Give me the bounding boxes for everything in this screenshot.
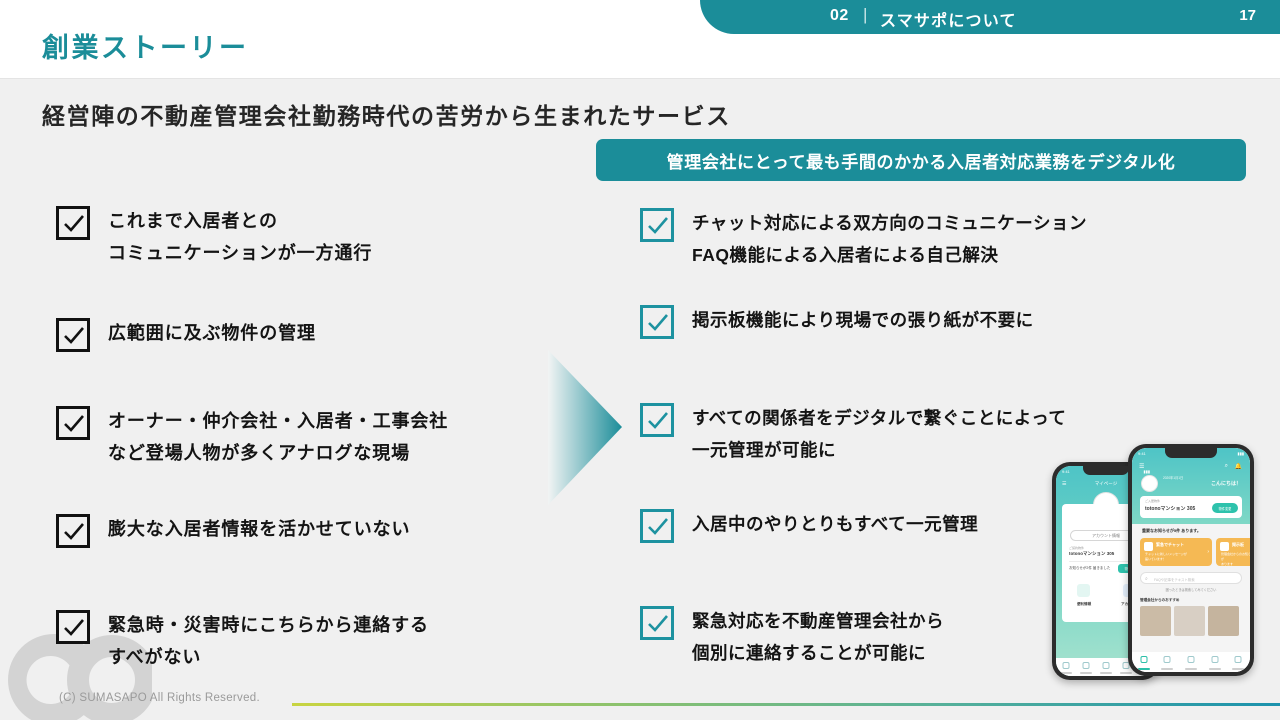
highlight-pill-label: 管理会社にとって最も手間のかかる入居者対応業務をデジタル化	[667, 148, 1176, 173]
status-time: 9:41	[1062, 469, 1070, 474]
phone-mockup-right: 9:41 ▮▮▮ ☰ ⌕ 🔔 2020年1月1日 こんにちは！ ご入居物件 to…	[1128, 444, 1254, 676]
nav-item-faq[interactable]	[1203, 652, 1227, 672]
notice-text: お知らせが2件 届きました	[1069, 566, 1110, 571]
list-item: オーナー・仲介会社・入居者・工事会社 など登場人物が多くアナログな現場	[56, 405, 448, 469]
notice-card-board[interactable]: 掲示板 管理会社からのお知らせが あります	[1216, 538, 1250, 566]
list-item: これまで入居者との コミュニケーションが一方通行	[56, 205, 372, 269]
status-icons-left: ▮▮▮	[1143, 469, 1150, 474]
status-icons-right: ▮▮▮	[1237, 451, 1244, 456]
list-item: 膨大な入居者情報を活かせていない	[56, 513, 410, 548]
footer-gradient-rule	[292, 703, 1280, 706]
property-change-badge-right[interactable]: 物件変更	[1212, 503, 1238, 513]
property-caption-right: ご入居物件	[1145, 499, 1160, 503]
search-hint: 困ったときは検索してみてください	[1166, 587, 1217, 592]
notice-card-chat-body: チャットに新しいメッセージが 届いています！	[1145, 552, 1205, 562]
checkbox-checked-icon	[56, 406, 90, 440]
checkbox-checked-icon	[640, 305, 674, 339]
property-name-right: totonoマンション 305	[1145, 505, 1195, 512]
recommend-heading: 管理会社からのおすすめ	[1140, 598, 1180, 603]
nav-item-home[interactable]	[1132, 652, 1156, 672]
account-info-label: アカウント情報	[1092, 533, 1120, 539]
recommend-thumb[interactable]	[1140, 606, 1171, 636]
list-item-label: 膨大な入居者情報を活かせていない	[108, 513, 410, 545]
highlight-pill: 管理会社にとって最も手間のかかる入居者対応業務をデジタル化	[596, 139, 1246, 181]
checkbox-checked-icon	[640, 606, 674, 640]
section-title: スマサポについて	[880, 7, 1017, 31]
chat-icon	[1144, 542, 1153, 551]
list-item-label: 入居中のやりとりもすべて一元管理	[692, 508, 978, 540]
property-caption-left: ご契約物件	[1069, 546, 1084, 550]
search-input[interactable]: ⌕ FAQや記事をテキスト検索	[1140, 572, 1242, 584]
section-separator: |	[863, 5, 867, 25]
search-icon: ⌕	[1145, 576, 1148, 582]
tile-icon-info	[1077, 584, 1090, 597]
list-item: 緊急時・災害時にこちらから連絡する すべがない	[56, 609, 429, 673]
list-item: 入居中のやりとりもすべて一元管理	[640, 508, 978, 543]
list-item: チャット対応による双方向のコミュニケーション FAQ機能による入居者による自己解…	[640, 207, 1087, 271]
nav-item-board[interactable]	[1096, 658, 1116, 676]
list-item-label: チャット対応による双方向のコミュニケーション FAQ機能による入居者による自己解…	[692, 207, 1087, 271]
screen-title-left: マイページ	[1095, 481, 1117, 487]
page-title: 創業ストーリー	[42, 26, 249, 65]
board-icon	[1220, 542, 1229, 551]
greeting-text: こんにちは！	[1211, 480, 1241, 487]
list-item-label: オーナー・仲介会社・入居者・工事会社 など登場人物が多くアナログな現場	[108, 405, 448, 469]
list-item: 広範囲に及ぶ物件の管理	[56, 317, 316, 352]
slide-subtitle: 経営陣の不動産管理会社勤務時代の苦労から生まれたサービス	[42, 97, 731, 131]
chevron-right-icon: ›	[1207, 549, 1209, 555]
list-item: 緊急対応を不動産管理会社から 個別に連絡することが可能に	[640, 605, 944, 669]
avatar	[1141, 475, 1158, 492]
checkbox-checked-icon	[56, 206, 90, 240]
bottom-nav-right[interactable]	[1132, 652, 1250, 672]
app-phone-mockups: 9:41 ▮▮▮ ☰ マイページ アカウント情報 ご契約物件 totonoマンシ…	[1046, 442, 1266, 682]
checkbox-checked-icon	[56, 610, 90, 644]
notice-card-board-body: 管理会社からのお知らせが あります	[1221, 552, 1250, 567]
nav-item-chat[interactable]	[1156, 652, 1180, 672]
search-placeholder: FAQや記事をテキスト検索	[1154, 577, 1195, 582]
greeting-date: 2020年1月1日	[1163, 475, 1183, 480]
slide-root: 02 | スマサポについて 17 創業ストーリー 経営陣の不動産管理会社勤務時代…	[0, 0, 1280, 720]
property-name-left: totonoマンション 305	[1069, 551, 1114, 557]
checkbox-checked-icon	[640, 208, 674, 242]
copyright-text: (C) SUMASAPO All Rights Reserved.	[59, 692, 260, 704]
section-number: 02	[830, 7, 849, 25]
list-item-label: これまで入居者との コミュニケーションが一方通行	[108, 205, 372, 269]
list-item-label: すべての関係者をデジタルで繋ぐことによって 一元管理が可能に	[692, 402, 1066, 466]
nav-item-home[interactable]	[1056, 658, 1076, 676]
checkbox-checked-icon	[56, 514, 90, 548]
list-item-label: 緊急時・災害時にこちらから連絡する すべがない	[108, 609, 429, 673]
checkbox-checked-icon	[640, 509, 674, 543]
hamburger-icon[interactable]: ☰	[1062, 481, 1066, 487]
list-item: すべての関係者をデジタルで繋ぐことによって 一元管理が可能に	[640, 402, 1066, 466]
bell-icon[interactable]: 🔔	[1235, 463, 1242, 470]
status-time: 9:41	[1138, 451, 1146, 456]
recommend-thumb[interactable]	[1174, 606, 1205, 636]
notice-card-chat-title: 緊急でチャット	[1156, 542, 1184, 548]
search-icon[interactable]: ⌕	[1225, 463, 1228, 470]
notice-card-board-title: 掲示板	[1232, 542, 1244, 548]
list-item-label: 広範囲に及ぶ物件の管理	[108, 317, 316, 349]
checkbox-checked-icon	[56, 318, 90, 352]
page-number: 17	[1239, 7, 1256, 24]
tile-label-info: 便利情報	[1071, 602, 1097, 607]
transition-arrow-icon	[548, 350, 622, 505]
nav-item-chat[interactable]	[1076, 658, 1096, 676]
list-item: 掲示板機能により現場での張り紙が不要に	[640, 304, 1034, 339]
list-item-label: 緊急対応を不動産管理会社から 個別に連絡することが可能に	[692, 605, 944, 669]
nav-item-board[interactable]	[1179, 652, 1203, 672]
list-item-label: 掲示板機能により現場での張り紙が不要に	[692, 304, 1034, 336]
recommend-thumb[interactable]	[1208, 606, 1239, 636]
notice-heading: 重要なお知らせが5件 あります。	[1142, 528, 1201, 534]
notice-card-chat[interactable]: 緊急でチャット チャットに新しいメッセージが 届いています！ ›	[1140, 538, 1212, 566]
checkbox-checked-icon	[640, 403, 674, 437]
phone-screen-right: 9:41 ▮▮▮ ☰ ⌕ 🔔 2020年1月1日 こんにちは！ ご入居物件 to…	[1132, 448, 1250, 672]
header-section-band: 02 | スマサポについて 17	[700, 0, 1280, 34]
nav-item-mypage[interactable]	[1226, 652, 1250, 672]
